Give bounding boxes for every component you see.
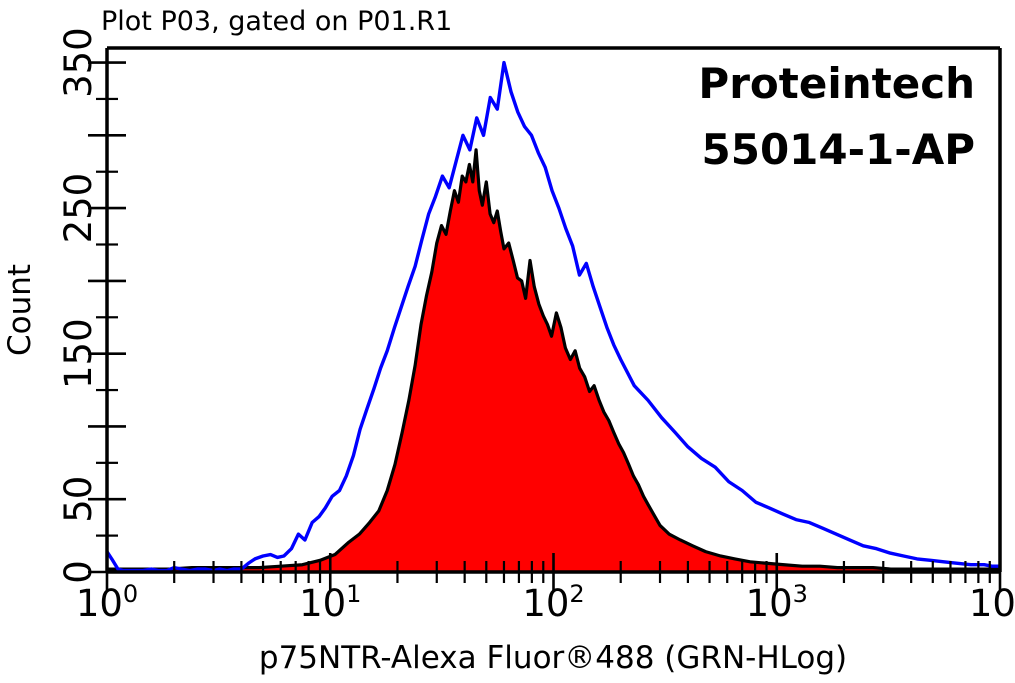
y-tick-label: 0 [57, 560, 100, 584]
x-tick-exponent: 1 [346, 580, 361, 608]
y-tick-label: 50 [57, 476, 100, 523]
y-tick-label: 250 [57, 173, 100, 244]
x-tick-exponent: 0 [123, 580, 138, 608]
chart-canvas: Plot P03, gated on P01.R1 10010110210310… [0, 0, 1015, 683]
x-tick-exponent: 3 [793, 580, 808, 608]
watermark-catalog: 55014-1-AP [702, 125, 976, 174]
y-axis-title: Count [2, 264, 38, 356]
y-tick-label: 350 [57, 27, 100, 98]
x-tick-label: 104 [969, 580, 1015, 625]
plot-title: Plot P03, gated on P01.R1 [101, 6, 452, 37]
watermark-brand: Proteintech [698, 59, 975, 108]
flow-cytometry-histogram-figure: Plot P03, gated on P01.R1 10010110210310… [0, 0, 1015, 683]
x-axis-title: p75NTR-Alexa Fluor®488 (GRN-HLog) [259, 640, 847, 676]
x-tick-exponent: 2 [569, 580, 584, 608]
y-tick-label: 150 [57, 318, 100, 389]
